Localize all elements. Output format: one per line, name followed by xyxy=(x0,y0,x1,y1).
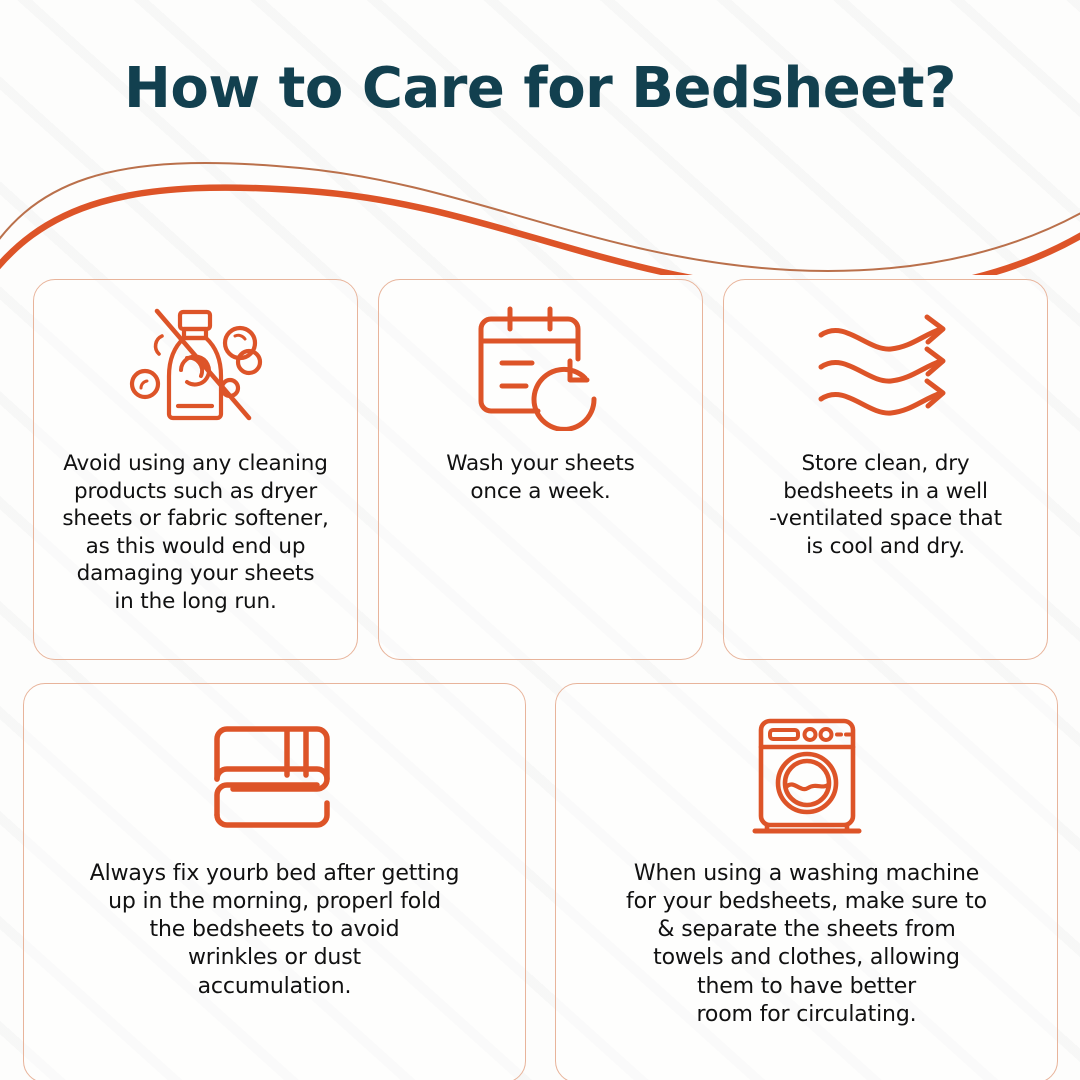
airflow-ventilation-icon xyxy=(811,311,961,421)
no-cleaning-products-icon xyxy=(121,296,271,436)
wave-divider-icon xyxy=(0,140,1080,275)
tip-card-no-cleaning-products[interactable]: Avoid using any cleaning products such a… xyxy=(33,279,358,660)
tip-card-text: Always fix yourb bed after getting up in… xyxy=(76,860,474,1001)
page-title: How to Care for Bedsheet? xyxy=(0,56,1080,121)
infographic-poster: How to Care for Bedsheet? xyxy=(0,0,1080,1080)
tip-card-text: Wash your sheets once a week. xyxy=(432,450,648,505)
card-icon-slot xyxy=(121,286,271,446)
washing-machine-icon xyxy=(747,713,867,841)
folded-bedsheets-icon xyxy=(205,717,345,837)
tip-card-text: Avoid using any cleaning products such a… xyxy=(48,450,342,615)
tip-card-store-dry[interactable]: Store clean, dry bedsheets in a well -ve… xyxy=(723,279,1048,660)
tip-card-washing-machine[interactable]: When using a washing machine for your be… xyxy=(555,683,1058,1080)
tip-card-text: Store clean, dry bedsheets in a well -ve… xyxy=(755,450,1016,560)
tip-card-make-bed[interactable]: Always fix yourb bed after getting up in… xyxy=(23,683,526,1080)
tip-card-text: When using a washing machine for your be… xyxy=(612,860,1001,1029)
tip-card-wash-weekly[interactable]: Wash your sheets once a week. xyxy=(378,279,703,660)
card-icon-slot xyxy=(205,702,345,852)
calendar-clock-icon xyxy=(466,301,616,431)
card-icon-slot xyxy=(811,286,961,446)
card-icon-slot xyxy=(747,702,867,852)
card-icon-slot xyxy=(466,286,616,446)
